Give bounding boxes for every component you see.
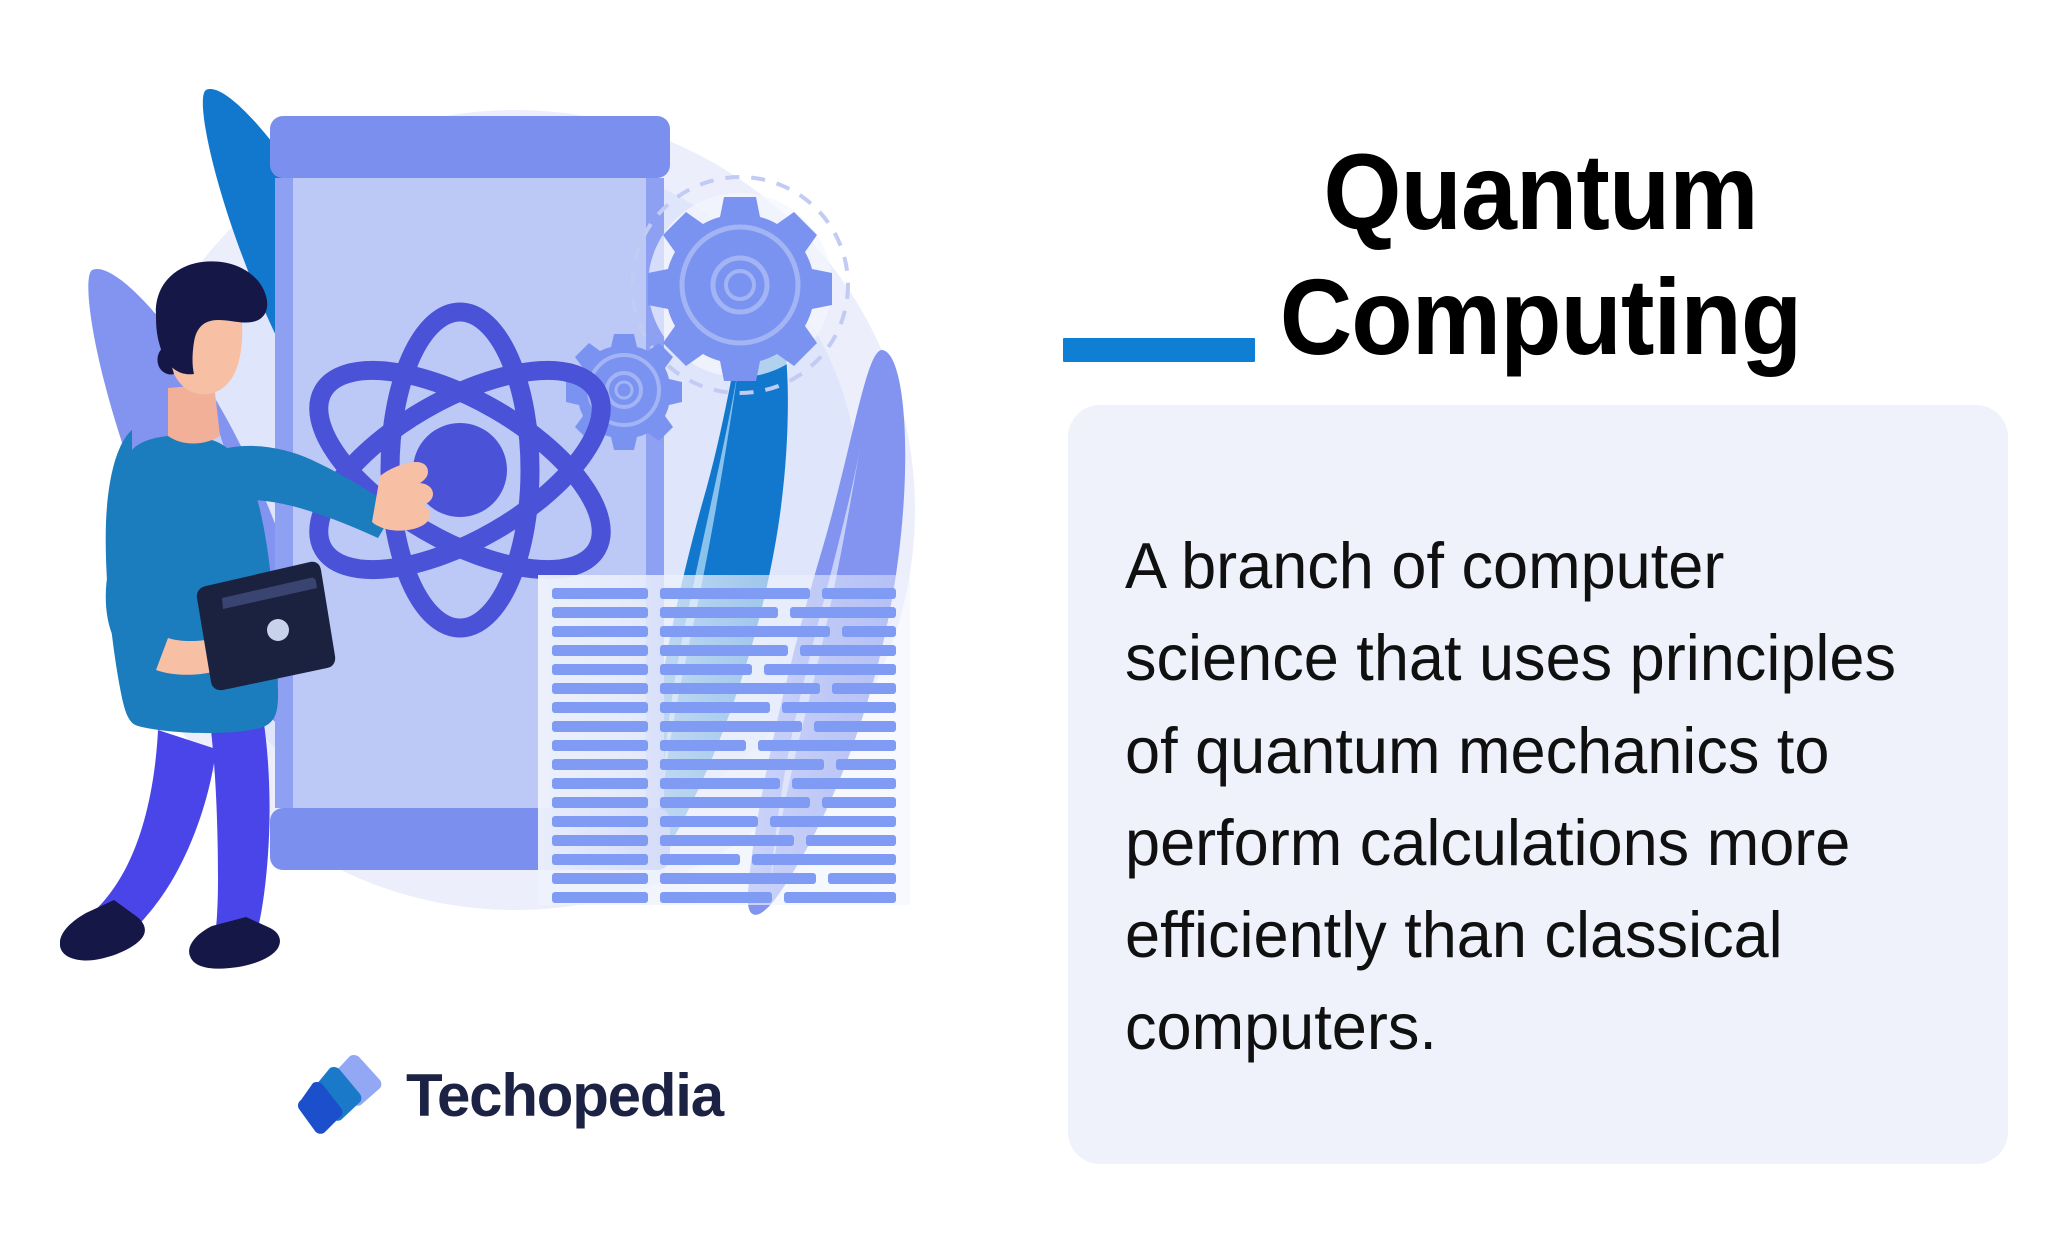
techopedia-wordmark: Techopedia bbox=[406, 1066, 723, 1126]
text-panel: Quantum Computing A branch of computer s… bbox=[1063, 0, 2048, 1253]
techopedia-logo-mark bbox=[298, 1053, 386, 1139]
gear-small-icon bbox=[566, 334, 682, 450]
title-accent-bar bbox=[1063, 338, 1255, 362]
infographic-card: Techopedia Quantum Computing A branch of… bbox=[0, 0, 2048, 1253]
quantum-computing-illustration bbox=[60, 70, 1000, 970]
techopedia-logo[interactable]: Techopedia bbox=[298, 1053, 723, 1139]
page-title-line-1: Quantum bbox=[1096, 130, 1984, 254]
gear-large-icon bbox=[648, 197, 832, 381]
definition-text: A branch of computer science that uses p… bbox=[1125, 520, 1920, 1074]
definition-card: A branch of computer science that uses p… bbox=[1068, 405, 2008, 1164]
document-lines bbox=[538, 575, 910, 905]
